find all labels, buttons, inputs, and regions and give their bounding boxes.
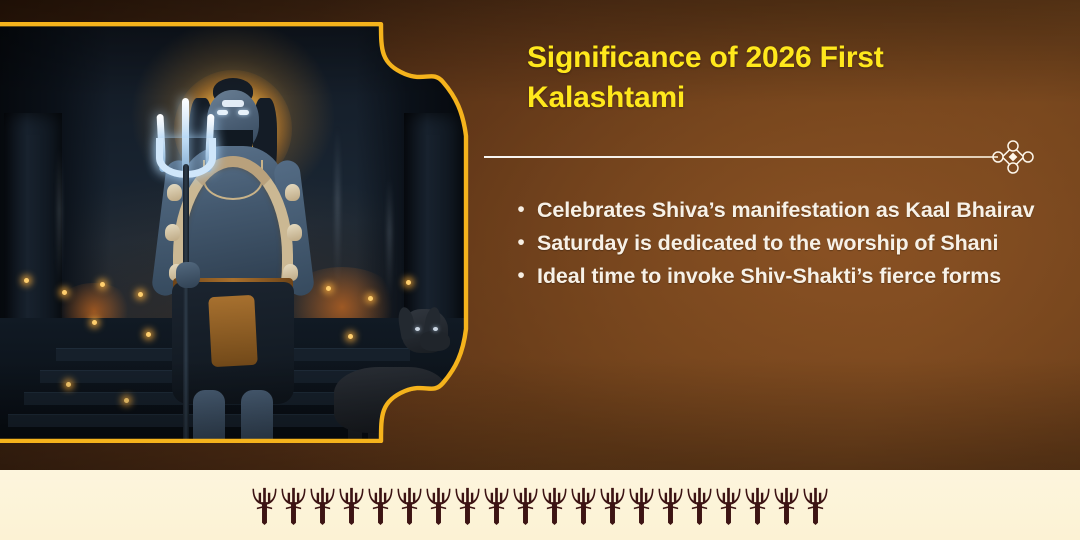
deity-image [0, 22, 470, 443]
trishul-icon [744, 485, 771, 525]
footer-band [0, 470, 1080, 540]
bullet-list: • Celebrates Shiva’s manifestation as Ka… [514, 196, 1044, 296]
trishul-icon [802, 485, 829, 525]
divider-line [484, 156, 998, 158]
bullet-marker: • [514, 229, 528, 257]
deity-image-panel [0, 22, 470, 443]
trishul-icon [280, 485, 307, 525]
list-item: • Ideal time to invoke Shiv-Shakti’s fie… [514, 262, 1044, 291]
divider [484, 140, 1044, 174]
night-temple-scene [0, 22, 470, 443]
list-item-text: Ideal time to invoke Shiv-Shakti’s fierc… [537, 262, 1001, 291]
trishul-icon [599, 485, 626, 525]
trishul-icon [483, 485, 510, 525]
list-item: • Saturday is dedicated to the worship o… [514, 229, 1044, 258]
list-item: • Celebrates Shiva’s manifestation as Ka… [514, 196, 1044, 225]
trishul-icon [396, 485, 423, 525]
page-title: Significance of 2026 First Kalashtami [527, 38, 947, 117]
knot-ornament-icon [990, 140, 1036, 174]
trishul-icon [541, 485, 568, 525]
poster: Significance of 2026 First Kalashtami [0, 0, 1080, 540]
bullet-marker: • [514, 262, 528, 290]
trishul-icon [367, 485, 394, 525]
trishul-icon [251, 485, 278, 525]
trishul-icon [570, 485, 597, 525]
trishul-icon [425, 485, 452, 525]
trishul-icon [309, 485, 336, 525]
trishul-icon [686, 485, 713, 525]
image-vignette [0, 22, 470, 443]
trishul-row [251, 485, 829, 525]
list-item-text: Celebrates Shiva’s manifestation as Kaal… [537, 196, 1034, 225]
trishul-icon [715, 485, 742, 525]
trishul-icon [628, 485, 655, 525]
trishul-icon [338, 485, 365, 525]
trishul-icon [773, 485, 800, 525]
bullet-marker: • [514, 196, 528, 224]
dog-leg [408, 411, 422, 443]
dog-leg [426, 411, 440, 443]
trishul-icon [454, 485, 481, 525]
trishul-icon [657, 485, 684, 525]
list-item-text: Saturday is dedicated to the worship of … [537, 229, 998, 258]
trishul-icon [512, 485, 539, 525]
content-column: Significance of 2026 First Kalashtami [500, 0, 1080, 470]
